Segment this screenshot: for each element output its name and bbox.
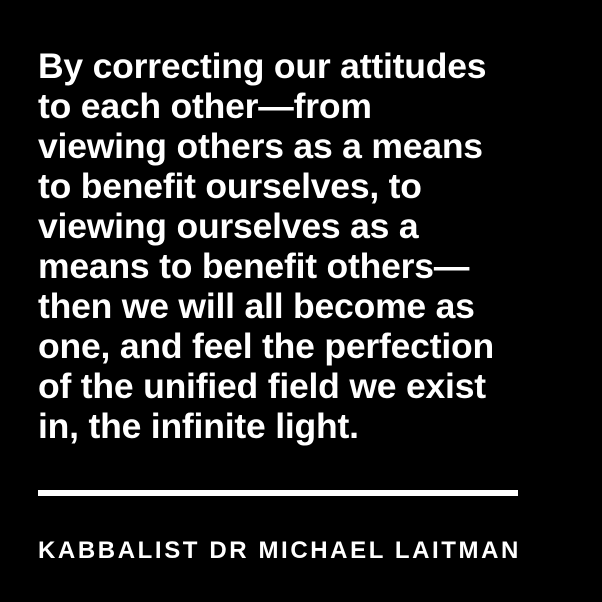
attribution-block: KABBALIST DR MICHAEL LAITMAN <box>38 490 578 564</box>
quote-card: By correcting our attitudes to each othe… <box>0 0 602 602</box>
quote-body: By correcting our attitudes to each othe… <box>38 46 578 446</box>
divider-rule <box>38 490 518 496</box>
quote-text: By correcting our attitudes to each othe… <box>38 46 578 446</box>
attribution-author-name: KABBALIST DR MICHAEL LAITMAN <box>38 538 578 564</box>
